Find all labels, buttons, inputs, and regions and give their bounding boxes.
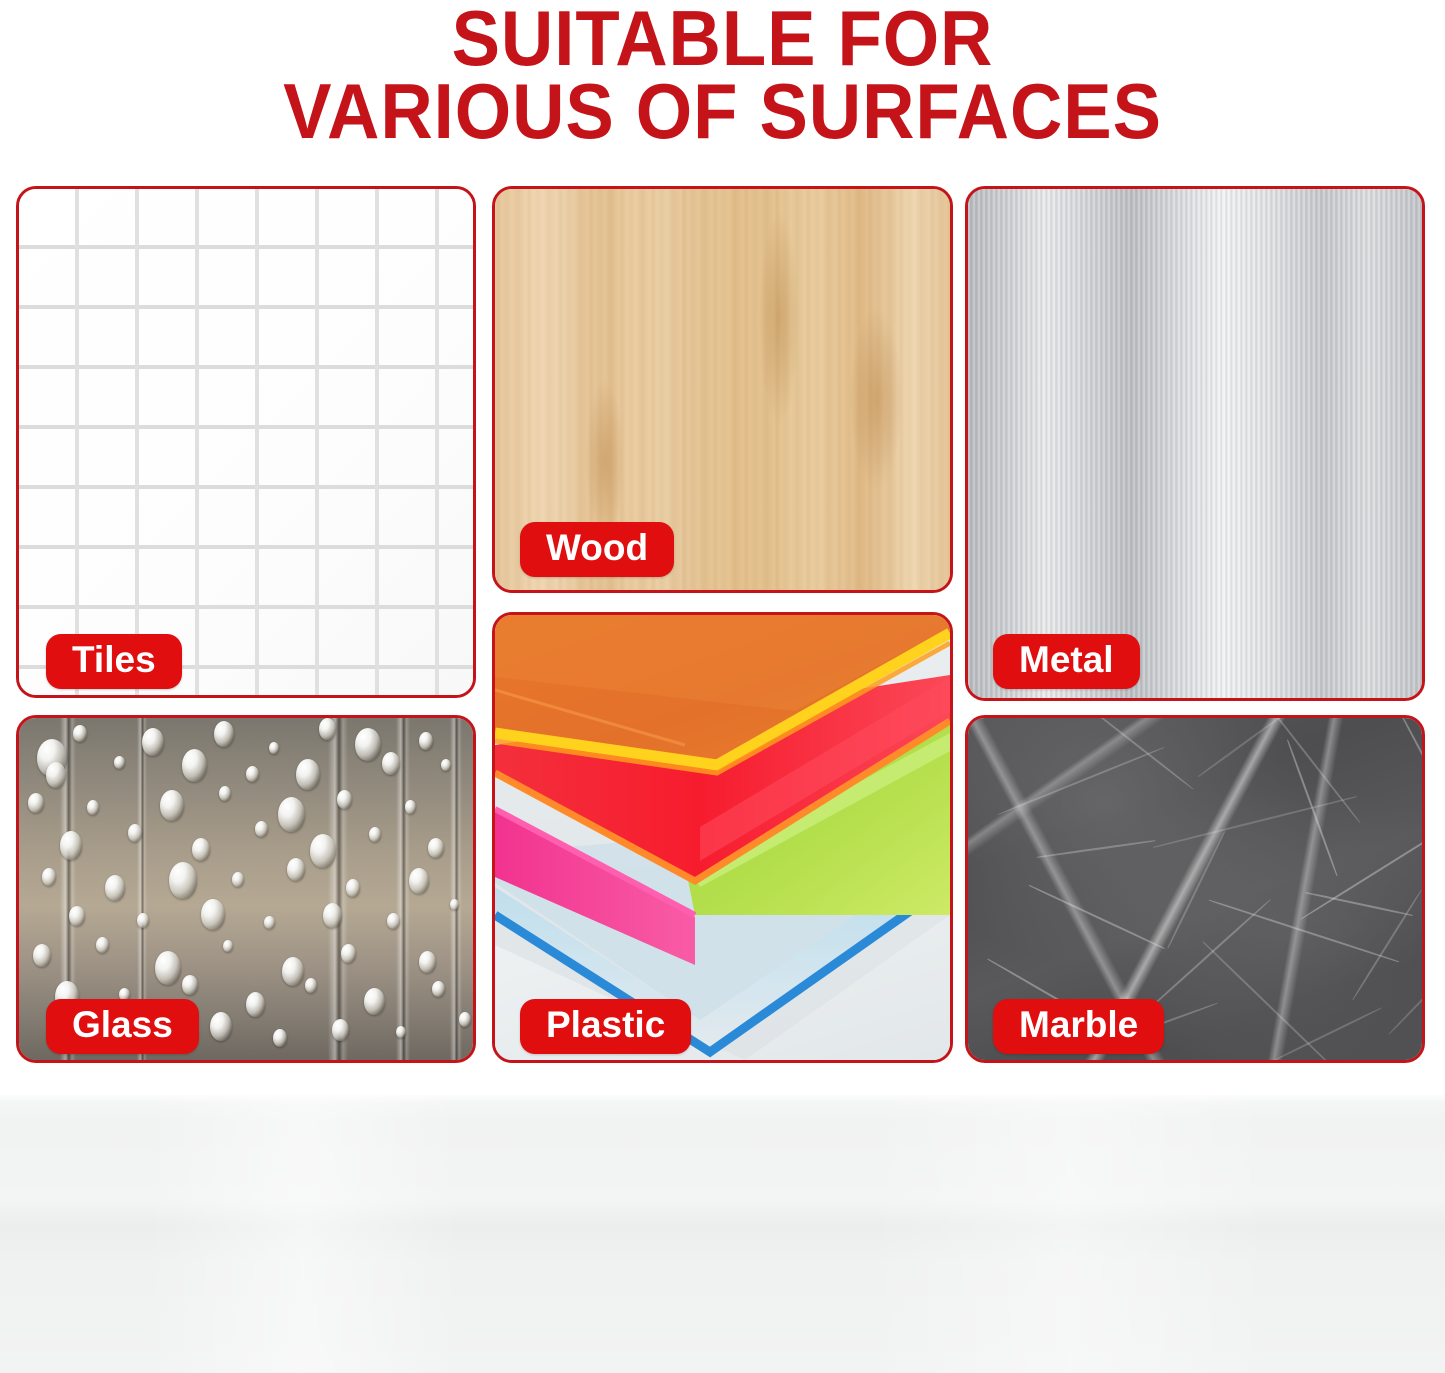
wood-grain-knot [586,381,624,541]
marble-vein [1287,739,1338,876]
water-droplet [192,838,210,861]
water-droplet [155,951,181,985]
water-droplet [264,916,275,929]
water-droplet [387,913,400,929]
marble-vein [1398,715,1425,840]
water-droplet [337,790,352,809]
water-droplet [396,1026,406,1038]
water-droplet [219,786,231,801]
marble-vein [1305,891,1413,915]
surface-label-metal: Metal [993,634,1140,689]
surface-label-plastic: Plastic [520,999,691,1054]
water-droplet [305,978,317,993]
water-droplet [346,879,360,897]
water-droplet [459,1012,471,1027]
backdrop-sheen [145,1095,463,1373]
water-droplet [142,728,164,756]
water-droplet [278,797,305,832]
water-streak [328,715,348,1063]
water-droplet [269,742,279,754]
water-droplet [255,821,268,837]
water-droplet [369,827,381,842]
wood-grain-knot [759,213,799,423]
wood-grain-knot [850,309,902,489]
water-droplet [355,728,381,761]
water-droplet [382,752,400,775]
water-droplet [105,875,125,901]
water-droplet [296,759,320,790]
marble-vein [1082,715,1194,790]
marble-vein [1037,840,1156,858]
tiles-texture [19,189,473,695]
surface-card-tiles [16,186,476,698]
water-droplet [182,749,207,782]
water-droplet [160,790,184,821]
water-droplet [223,940,233,952]
water-droplet [409,868,429,894]
water-droplet [42,868,56,886]
water-droplet [201,899,225,930]
metal-texture [968,189,1422,698]
water-droplet [28,793,44,813]
surface-card-plastic [492,612,953,1063]
surface-label-tiles: Tiles [46,634,182,689]
surface-label-glass: Glass [46,999,199,1054]
backdrop-sheen [867,1095,1272,1373]
water-droplet [114,756,125,769]
water-droplet [182,975,198,995]
marble-vein [1352,889,1423,1000]
water-droplet [428,838,444,858]
marble-vein [1153,795,1357,847]
product-backdrop-surface [0,1095,1445,1373]
water-droplet [405,800,416,814]
surface-label-wood: Wood [520,522,674,577]
water-droplet [310,834,336,868]
water-streak [450,715,462,1063]
water-droplet [96,937,109,953]
surface-card-metal [965,186,1425,701]
water-droplet [323,903,342,928]
water-droplet [246,766,259,782]
water-droplet [210,1012,232,1041]
water-droplet [214,721,234,747]
water-droplet [33,944,51,967]
acrylic-sheets-illustration [495,615,950,1060]
water-droplet [87,800,99,815]
surface-label-marble: Marble [993,999,1164,1054]
water-droplet [419,732,433,750]
water-droplet [287,858,305,881]
water-droplet [169,862,197,899]
water-droplet [319,718,336,740]
water-droplet [273,1029,287,1047]
marble-vein [1029,885,1166,950]
water-droplet [419,951,436,973]
water-droplet [232,872,244,887]
water-droplet [60,831,82,860]
water-droplet [137,913,149,928]
marble-vein [1167,831,1225,949]
water-droplet [69,906,85,926]
water-droplet [332,1019,349,1041]
water-droplet [246,992,265,1017]
water-droplet [364,988,385,1015]
water-droplet [432,981,445,997]
water-droplet [128,824,142,842]
marble-vein [1202,941,1336,1063]
water-droplet [282,957,304,986]
water-droplet [73,725,87,742]
marble-vein [1273,1006,1382,1060]
marble-vein [1209,899,1400,962]
plastic-texture [495,615,950,1060]
marble-vein [997,746,1165,815]
water-droplet [341,944,356,963]
marble-vein [1387,936,1425,1035]
marble-vein [1140,899,1271,1018]
